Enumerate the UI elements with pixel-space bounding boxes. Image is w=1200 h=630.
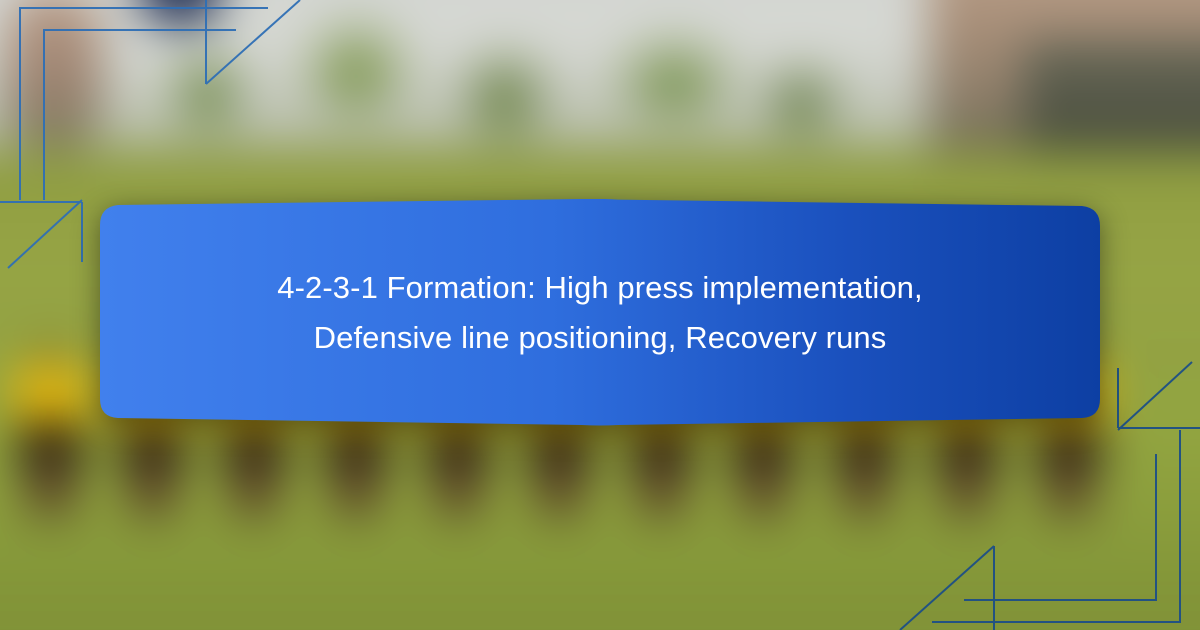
caption-card-text: 4-2-3-1 Formation: High press implementa…: [100, 199, 1100, 426]
background-person-body: [6, 0, 101, 151]
banner-canvas: 4-2-3-1 Formation: High press implementa…: [0, 0, 1200, 630]
caption-card: 4-2-3-1 Formation: High press implementa…: [100, 199, 1100, 426]
background-building-shadow: [1024, 40, 1200, 151]
caption-line-1: 4-2-3-1 Formation: High press implementa…: [277, 263, 922, 313]
caption-line-2: Defensive line positioning, Recovery run…: [314, 313, 887, 363]
background-player: [6, 363, 95, 501]
background-trees: [81, 0, 865, 172]
